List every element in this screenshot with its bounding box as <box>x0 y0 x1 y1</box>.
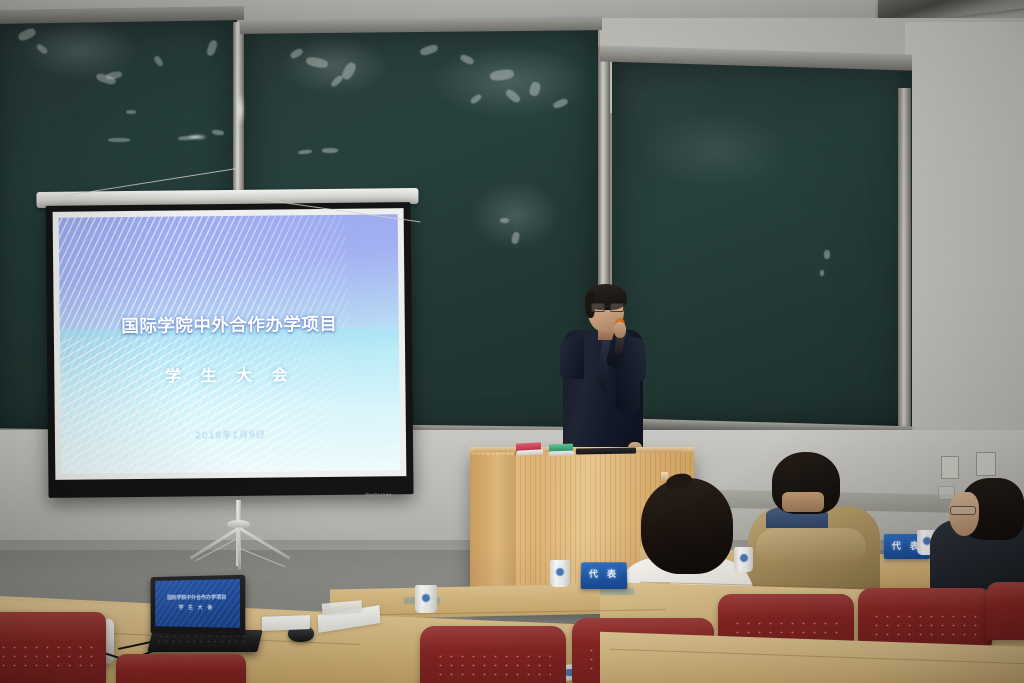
projection-screen: 国际学院中外合作办学项目 学 生 大 会 2018年1月9日 ProScreen <box>36 188 421 502</box>
chalk-mark <box>126 110 136 114</box>
cup-logo <box>421 593 431 603</box>
chair-highlight <box>858 588 992 611</box>
screen-brand-label: ProScreen <box>349 492 409 500</box>
chair-highlight <box>718 594 854 618</box>
blackboard-panel-right <box>612 60 912 430</box>
glasses-lens-right <box>610 303 624 312</box>
paper-sheet-2[interactable] <box>262 615 310 631</box>
chalk-mark <box>322 148 338 153</box>
audience-khaki-shoulder-hl <box>756 528 866 566</box>
papers-on-podium <box>576 447 636 454</box>
wall-right <box>905 22 1024 492</box>
chair-highlight <box>0 612 106 642</box>
chalk-mark <box>820 270 824 276</box>
nameplate-front[interactable]: 代 表 <box>581 562 628 589</box>
slide-subtitle: 学 生 大 会 <box>60 360 399 388</box>
podium-left-face <box>470 455 516 607</box>
classroom-photo: 国际学院中外合作办学项目 学 生 大 会 2018年1月9日 ProScreen <box>0 0 1024 683</box>
chair-perforation <box>435 652 552 678</box>
chair-front-1[interactable] <box>0 612 106 683</box>
cup-logo <box>555 567 565 577</box>
chalk-smudge <box>470 180 560 250</box>
speaker-glasses <box>591 303 622 310</box>
glasses-lens-left <box>591 303 605 312</box>
nameplate-front-text: 代 表 <box>581 567 627 580</box>
chair-mid-3[interactable] <box>986 582 1024 640</box>
speaker-hand-holding-mic <box>614 322 626 338</box>
laptop-screen: 国际学院中外合作办学项目 学 生 大 会 <box>155 579 240 628</box>
chalk-smudge <box>640 110 790 190</box>
screen-surface: 国际学院中外合作办学项目 学 生 大 会 2018年1月9日 <box>53 208 407 480</box>
chair-perforation <box>871 612 978 636</box>
chalk-smudge <box>430 44 590 119</box>
laptop-keyboard[interactable] <box>155 634 248 645</box>
speaker-shoulder-left <box>560 337 584 379</box>
cup-logo <box>739 553 749 563</box>
chair-highlight <box>986 582 1024 605</box>
slide-ray-pattern-lower <box>59 335 343 474</box>
paper-cup-left[interactable] <box>415 585 437 613</box>
blackboard-glare <box>236 92 245 126</box>
blackboard-frame-vertical-3 <box>898 88 911 438</box>
chair-highlight <box>420 626 566 651</box>
laptop-slide-title: 国际学院中外合作办学项目 <box>155 594 240 602</box>
chalk-smudge <box>20 20 140 80</box>
slide-title: 国际学院中外合作办学项目 <box>60 310 399 339</box>
chalk-smudge <box>280 36 390 96</box>
book-white-2 <box>549 451 574 457</box>
wall-outlet-1 <box>941 456 959 479</box>
chair-front-3[interactable] <box>420 626 566 683</box>
blackboard-glare <box>186 134 208 140</box>
chair-mid-2[interactable] <box>858 588 992 646</box>
chalk-mark <box>108 138 130 142</box>
chair-perforation <box>0 643 94 674</box>
laptop-lid[interactable]: 国际学院中外合作办学项目 学 生 大 会 <box>151 575 246 636</box>
audience-khaki-jacket-neck <box>782 492 824 512</box>
audience-dark-jacket-glasses <box>950 506 976 515</box>
chair-highlight <box>116 654 246 670</box>
presentation-slide: 国际学院中外合作办学项目 学 生 大 会 2018年1月9日 <box>59 214 401 474</box>
audience-white-coat-hair <box>641 478 733 574</box>
glasses-bridge <box>603 306 610 307</box>
chair-front-2[interactable] <box>116 654 246 683</box>
paper-cup-center[interactable] <box>550 560 570 587</box>
screen-border: 国际学院中外合作办学项目 学 生 大 会 2018年1月9日 ProScreen <box>46 202 414 498</box>
laptop-slide-subtitle: 学 生 大 会 <box>155 604 240 611</box>
wall-outlet-2 <box>976 452 996 476</box>
chalk-mark <box>824 250 830 259</box>
paper-cup-mid[interactable] <box>734 547 753 572</box>
